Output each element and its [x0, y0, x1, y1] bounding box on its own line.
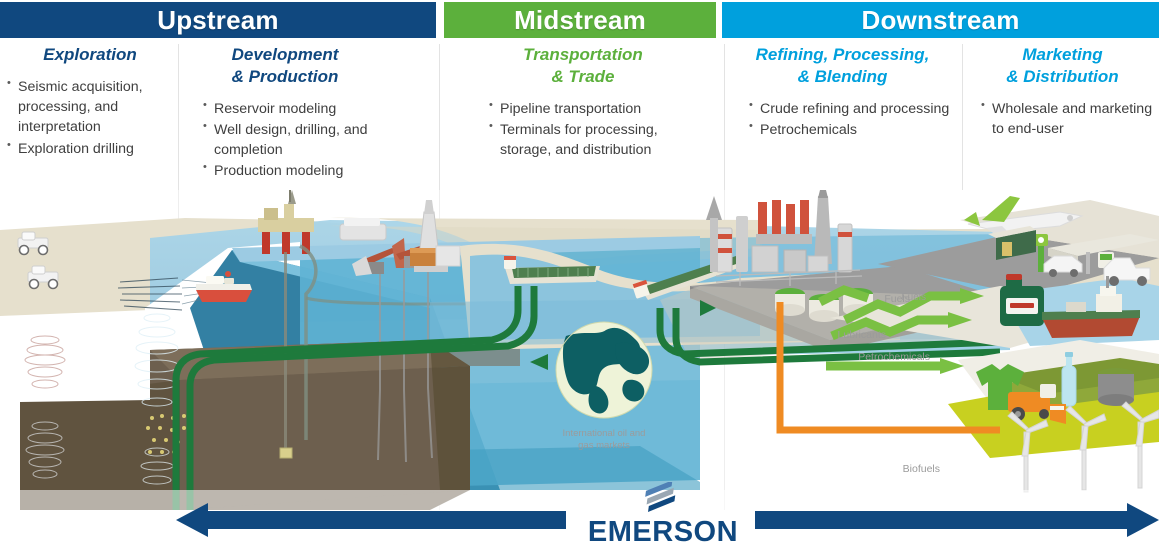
list-item: Terminals for processing, storage, and d…	[488, 120, 696, 161]
header-midstream-label: Midstream	[514, 5, 646, 36]
column-exploration-bullets: Seismic acquisition, processing, and int…	[6, 77, 174, 159]
column-divider	[724, 44, 725, 190]
column-development-bullets: Reservoir modeling Well design, drilling…	[190, 99, 380, 182]
column-transportation-title: Transportation & Trade	[470, 44, 696, 88]
value-chain-diagram: Upstream Midstream Downstream Exploratio…	[0, 0, 1159, 560]
list-item: Seismic acquisition, processing, and int…	[6, 77, 174, 138]
title-line-2: & Production	[232, 67, 339, 86]
list-item: Petrochemicals	[748, 120, 955, 140]
column-refining: Refining, Processing, & Blending Crude r…	[730, 44, 955, 141]
pipeline-label-petrochemicals: Petrochemicals	[858, 351, 930, 363]
title-line-1: Transportation	[523, 45, 643, 64]
column-refining-title: Refining, Processing, & Blending	[730, 44, 955, 88]
title-line-1: Development	[232, 45, 339, 64]
header-midstream: Midstream	[444, 2, 716, 38]
refinery-complex-icon	[706, 190, 862, 286]
value-chain-illustration: International oil and gas markets	[0, 190, 1159, 510]
column-marketing-title: Marketing & Distribution	[970, 44, 1155, 88]
emerson-logo: EMERSON	[578, 482, 748, 548]
pipeline-label-biofuels: Biofuels	[903, 463, 940, 475]
column-marketing: Marketing & Distribution Wholesale and m…	[970, 44, 1155, 140]
title-line-2: & Blending	[798, 67, 888, 86]
list-item: Reservoir modeling	[202, 99, 380, 119]
header-upstream-label: Upstream	[157, 5, 279, 36]
column-divider	[178, 44, 179, 190]
column-marketing-bullets: Wholesale and marketing to end-user	[970, 99, 1155, 140]
list-item: Production modeling	[202, 161, 380, 181]
column-divider	[439, 44, 440, 190]
column-divider	[962, 44, 963, 190]
tank-farm-icon	[410, 246, 460, 266]
column-development: Development & Production Reservoir model…	[190, 44, 380, 183]
title-line-2: & Distribution	[1006, 67, 1118, 86]
title-line-2: & Trade	[552, 67, 615, 86]
paint-can-icon	[1098, 368, 1134, 406]
header-downstream-label: Downstream	[861, 5, 1019, 36]
column-exploration-title: Exploration	[6, 44, 174, 66]
globe-icon	[556, 322, 652, 418]
pipeline-label-lubricants: Lubricants	[838, 329, 886, 341]
downstream-flow-arrow	[755, 503, 1159, 537]
upstream-flow-arrow	[176, 503, 566, 537]
emerson-mark-icon	[635, 482, 691, 512]
globe-label-line-2: gas markets	[578, 440, 630, 451]
list-item: Crude refining and processing	[748, 99, 955, 119]
title-line-1: Refining, Processing,	[756, 45, 930, 64]
storage-building-icon	[340, 218, 386, 240]
column-exploration: Exploration Seismic acquisition, process…	[6, 44, 174, 160]
header-downstream: Downstream	[722, 2, 1159, 38]
list-item: Pipeline transportation	[488, 99, 696, 119]
column-refining-bullets: Crude refining and processing Petrochemi…	[730, 99, 955, 141]
column-transportation: Transportation & Trade Pipeline transpor…	[470, 44, 696, 161]
column-development-title: Development & Production	[190, 44, 380, 88]
globe-label-line-1: International oil and	[563, 428, 646, 439]
header-upstream: Upstream	[0, 2, 436, 38]
pipeline-label-fuels: Fuels	[884, 293, 910, 305]
emerson-wordmark: EMERSON	[578, 518, 748, 547]
list-item: Well design, drilling, and completion	[202, 120, 380, 161]
list-item: Wholesale and marketing to end-user	[980, 99, 1155, 140]
column-transportation-bullets: Pipeline transportation Terminals for pr…	[470, 99, 696, 161]
list-item: Exploration drilling	[6, 139, 174, 159]
title-line-1: Marketing	[1022, 45, 1102, 64]
